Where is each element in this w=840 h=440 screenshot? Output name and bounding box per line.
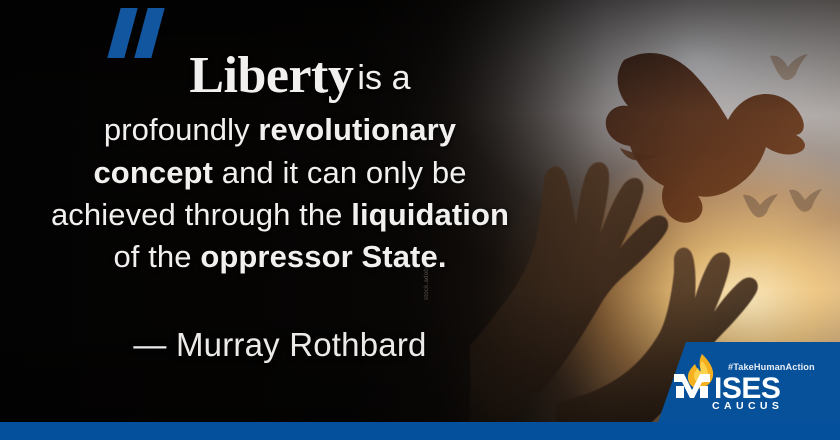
quote-line-1-tail: is a [357,59,410,97]
quote-line-4-a: achieved through the [51,197,351,232]
logo-hashtag: #TakeHumanAction [728,362,815,372]
mises-caucus-logo: #TakeHumanAction ISES CAUCUS [666,348,832,412]
quote-line-5-a: of the [113,239,200,274]
quote-word-liberty: Liberty [189,47,353,104]
quote-attribution: — Murray Rothbard [0,326,560,364]
quote-line-2: profoundly revolutionary [0,112,560,147]
quote-line-1: Libertyis a [0,46,560,105]
quote-line-3-b: and it can only be [213,155,467,190]
quote-line-4-b: liquidation [351,197,509,232]
quote-graphic-card: Libertyis a profoundly revolutionary con… [0,0,840,440]
quote-line-3-a: concept [93,155,213,190]
quote-line-2-b: revolutionary [258,112,456,147]
quote-line-5: of the oppressor State. [0,239,560,274]
quote-line-5-b: oppressor State. [200,239,446,274]
logo-subtitle: CAUCUS [712,400,783,412]
bottom-blue-bar [0,422,840,440]
quote-line-3: concept and it can only be [0,155,560,190]
quote-line-2-a: profoundly [104,112,258,147]
quote-block: Libertyis a profoundly revolutionary con… [0,46,560,275]
quote-line-4: achieved through the liquidation [0,197,560,232]
quote-mark-icon [112,8,178,60]
